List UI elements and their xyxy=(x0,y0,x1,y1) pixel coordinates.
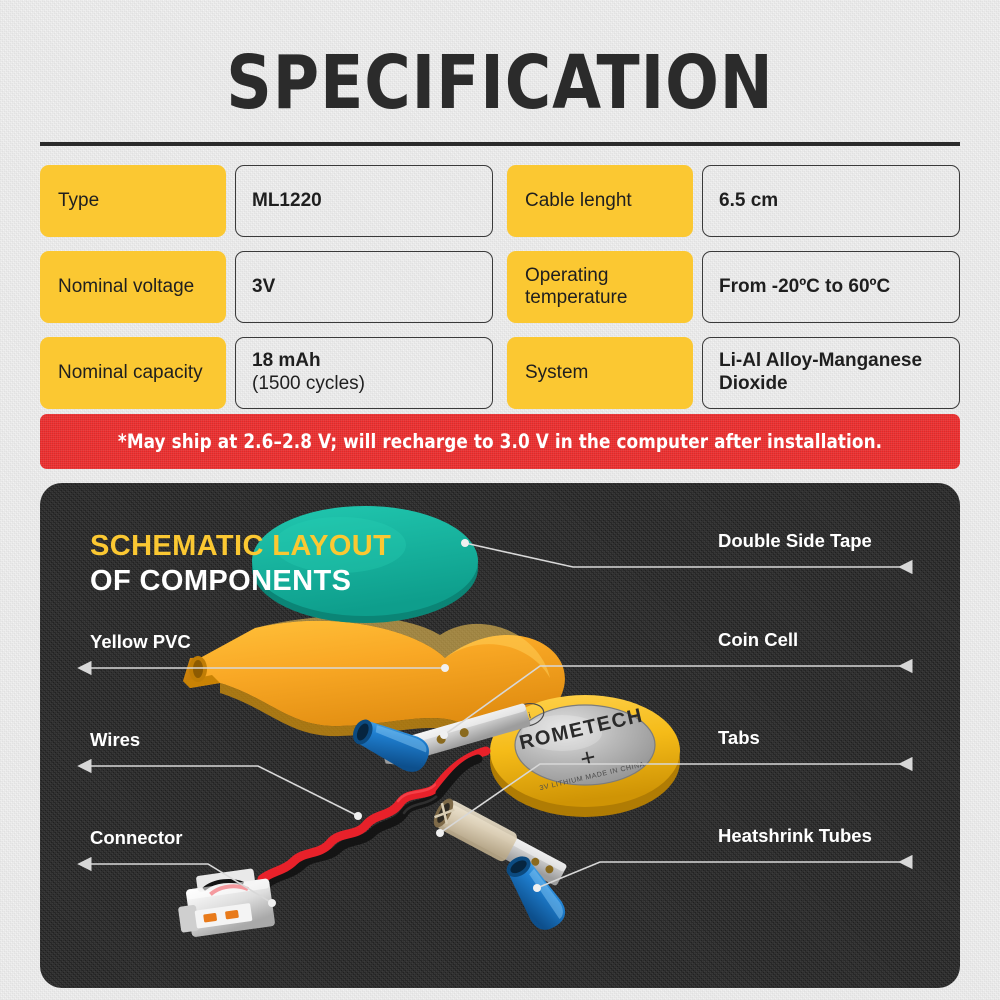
spec-label-text: Nominal voltage xyxy=(58,276,194,298)
spec-label-type: Type xyxy=(40,165,226,237)
spec-label-nominal-voltage: Nominal voltage xyxy=(40,251,226,323)
spec-label-operating-temperature: Operating temperature xyxy=(507,251,693,323)
callout-label-double-side-tape: Double Side Tape xyxy=(718,530,872,552)
spec-label-nominal-capacity: Nominal capacity xyxy=(40,337,226,409)
spec-value-type: ML1220 xyxy=(235,165,493,237)
callout-label-coin-cell: Coin Cell xyxy=(718,629,798,651)
spec-label-text: Type xyxy=(58,190,99,212)
spec-label-system: System xyxy=(507,337,693,409)
spec-value-text: From -20ºC to 60ºC xyxy=(719,276,890,299)
spec-label-text: System xyxy=(525,362,588,384)
spec-cell-system: System Li-Al Alloy-Manganese Dioxide xyxy=(507,337,960,409)
callout-label-connector: Connector xyxy=(90,827,183,849)
spec-cell-type: Type ML1220 xyxy=(40,165,493,237)
spec-value-main: 18 mAh xyxy=(252,350,321,371)
spec-value-text: ML1220 xyxy=(252,190,322,213)
leader-connector xyxy=(90,864,272,903)
spec-value-text: 18 mAh (1500 cycles) xyxy=(252,350,365,396)
spec-label-cable-length: Cable lenght xyxy=(507,165,693,237)
spec-value-nominal-capacity: 18 mAh (1500 cycles) xyxy=(235,337,493,409)
spec-value-cable-length: 6.5 cm xyxy=(702,165,960,237)
spec-label-text: Nominal capacity xyxy=(58,362,203,384)
spec-cell-nominal-voltage: Nominal voltage 3V xyxy=(40,251,493,323)
table-row: Nominal voltage 3V Operating temperature… xyxy=(40,251,960,323)
spec-value-nominal-voltage: 3V xyxy=(235,251,493,323)
spec-value-text: 3V xyxy=(252,276,275,299)
shipping-notice-banner: *May ship at 2.6–2.8 V; will recharge to… xyxy=(40,414,960,469)
table-row: Nominal capacity 18 mAh (1500 cycles) Sy… xyxy=(40,337,960,409)
schematic-panel: SCHEMATIC LAYOUT OF COMPONENTS xyxy=(40,483,960,988)
callout-label-heatshrink-tubes: Heatshrink Tubes xyxy=(718,825,872,847)
schematic-heading-line2: OF COMPONENTS xyxy=(90,565,351,598)
callout-label-wires: Wires xyxy=(90,729,140,751)
spec-value-system: Li-Al Alloy-Manganese Dioxide xyxy=(702,337,960,409)
spec-label-text: Operating temperature xyxy=(525,265,675,310)
callout-label-yellow-pvc: Yellow PVC xyxy=(90,631,191,653)
spec-value-operating-temperature: From -20ºC to 60ºC xyxy=(702,251,960,323)
spec-cell-nominal-capacity: Nominal capacity 18 mAh (1500 cycles) xyxy=(40,337,493,409)
schematic-heading-line1: SCHEMATIC LAYOUT xyxy=(90,530,391,563)
leader-wires xyxy=(90,766,358,816)
spec-value-text: Li-Al Alloy-Manganese Dioxide xyxy=(719,350,943,396)
leader-heatshrink-tubes xyxy=(537,862,911,888)
shipping-notice-text: *May ship at 2.6–2.8 V; will recharge to… xyxy=(118,430,882,453)
spec-cell-operating-temperature: Operating temperature From -20ºC to 60ºC xyxy=(507,251,960,323)
page-title: SPECIFICATION xyxy=(25,46,975,120)
spec-value-text: 6.5 cm xyxy=(719,190,778,213)
callout-label-tabs: Tabs xyxy=(718,727,760,749)
specification-table: Type ML1220 Cable lenght 6.5 cm Nominal … xyxy=(40,165,960,423)
leader-coin-cell xyxy=(444,666,911,735)
spec-label-text: Cable lenght xyxy=(525,190,632,212)
table-row: Type ML1220 Cable lenght 6.5 cm xyxy=(40,165,960,237)
spec-cell-cable-length: Cable lenght 6.5 cm xyxy=(507,165,960,237)
leader-tabs xyxy=(440,764,911,833)
title-divider xyxy=(40,142,960,146)
spec-value-sub: (1500 cycles) xyxy=(252,373,365,394)
